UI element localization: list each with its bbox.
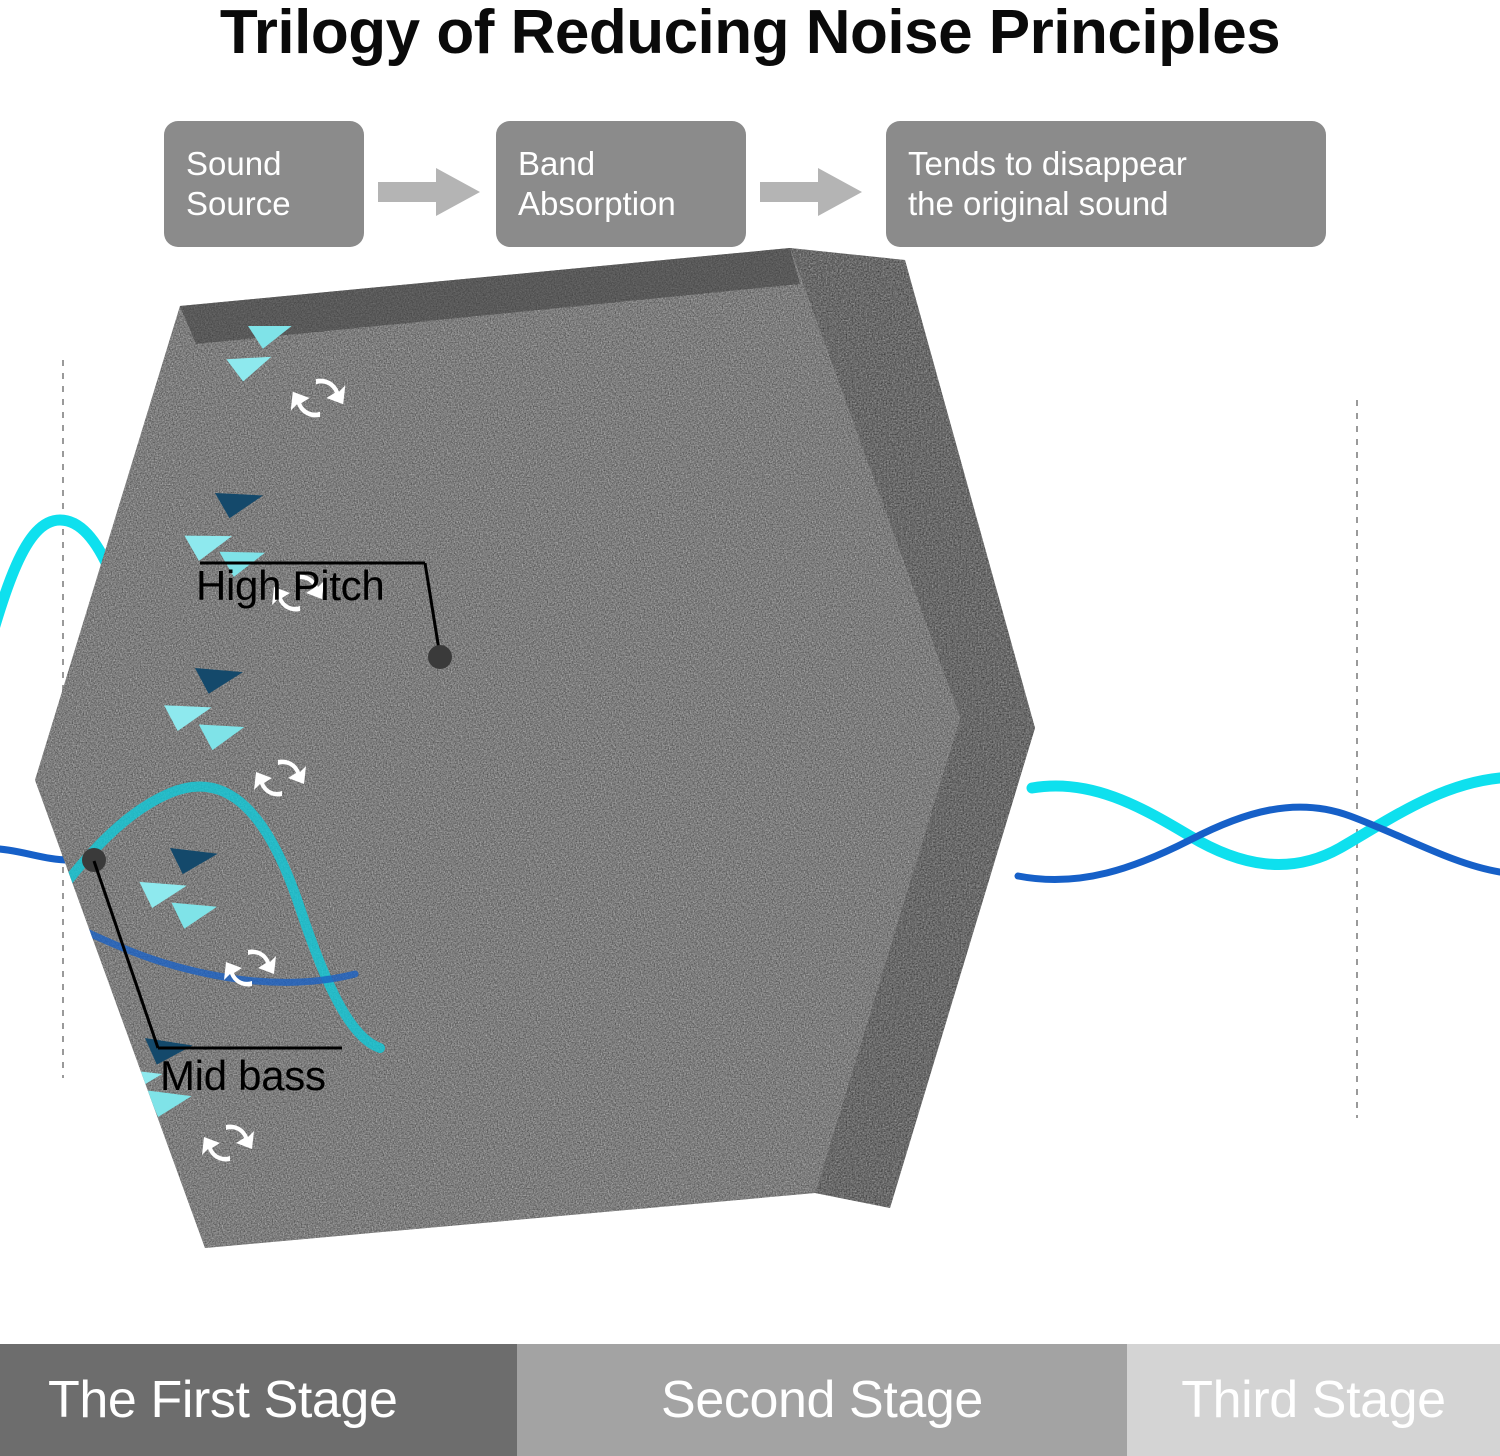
- high-pitch-marker-dot: [428, 645, 452, 669]
- flow-step-sound-source[interactable]: Sound Source: [164, 121, 364, 247]
- stage-label: Third Stage: [1181, 1370, 1445, 1430]
- stage-label: The First Stage: [48, 1370, 397, 1430]
- process-flow: Sound Source Band Absorption Tends to di…: [160, 118, 1340, 248]
- right-arrow-icon: [378, 168, 480, 216]
- right-arrow-icon: [760, 168, 862, 216]
- flow-step-tends-to-disappear[interactable]: Tends to disappear the original sound: [886, 121, 1326, 247]
- stage-band-second[interactable]: Second Stage: [517, 1344, 1127, 1456]
- stage-band-first[interactable]: The First Stage: [0, 1344, 517, 1456]
- infographic-page: Trilogy of Reducing Noise Principles Sou…: [0, 0, 1500, 1456]
- flow-step-label: Tends to disappear the original sound: [908, 144, 1187, 225]
- label-mid-bass: Mid bass: [160, 1052, 326, 1100]
- page-title: Trilogy of Reducing Noise Principles: [0, 2, 1500, 64]
- stage-label: Second Stage: [661, 1370, 983, 1430]
- flow-step-label: Sound Source: [186, 144, 291, 225]
- flow-step-label: Band Absorption: [518, 144, 676, 225]
- acoustic-foam-panel: [0, 248, 1035, 1248]
- absorption-arrow-icon: [128, 1173, 177, 1206]
- noise-absorption-diagram: [0, 248, 1500, 1333]
- mid-bass-marker-dot: [82, 848, 106, 872]
- outgoing-waves: [1018, 778, 1500, 880]
- mid-bass-wave-outgoing: [1018, 807, 1500, 879]
- absorption-arrow-group: [128, 1173, 177, 1206]
- stage-bar: The First Stage Second Stage Third Stage: [0, 1344, 1500, 1456]
- stage-band-third[interactable]: Third Stage: [1127, 1344, 1500, 1456]
- label-high-pitch: High Pitch: [196, 562, 384, 610]
- flow-step-band-absorption[interactable]: Band Absorption: [496, 121, 746, 247]
